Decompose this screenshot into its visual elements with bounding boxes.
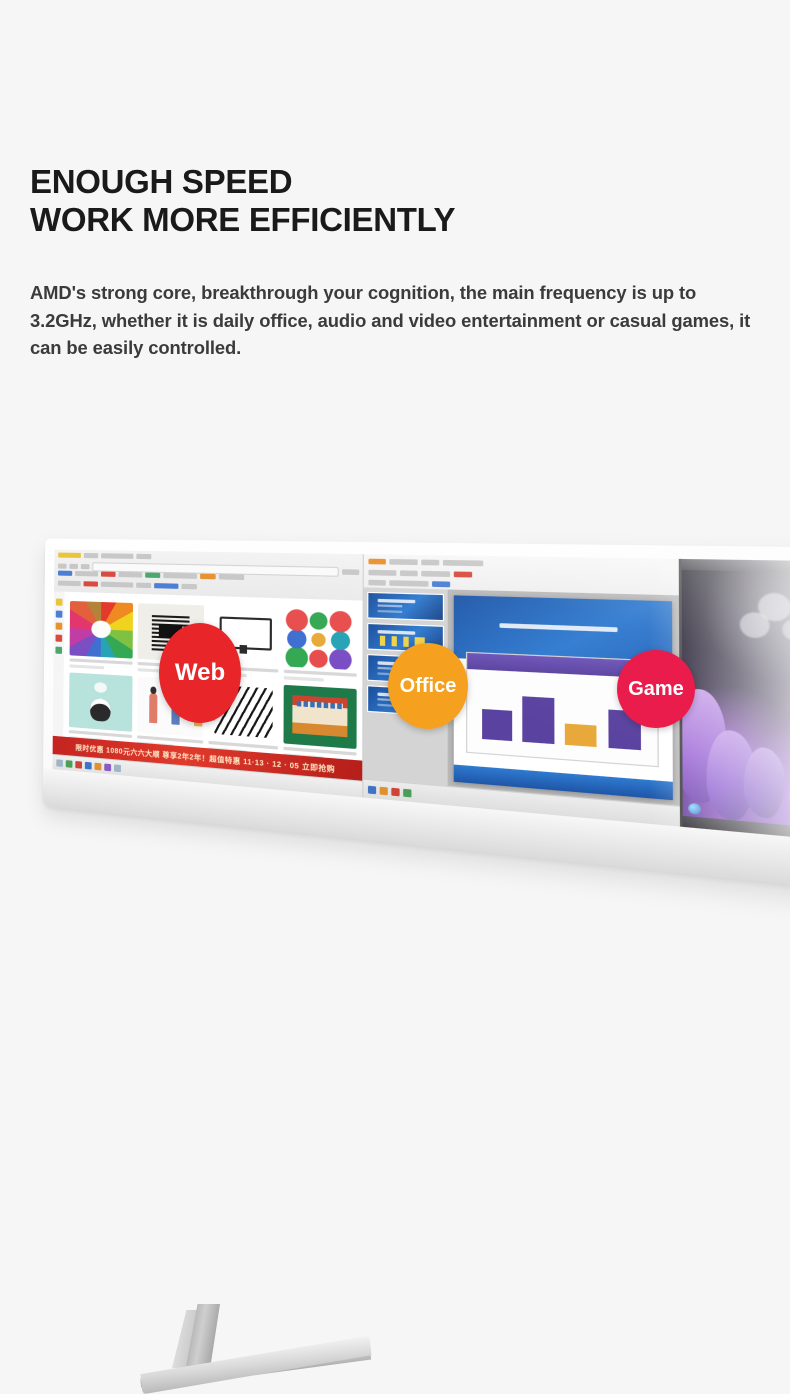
- result-card: [69, 601, 133, 671]
- game-viewport: [681, 570, 790, 835]
- taskbar-icon[interactable]: [104, 763, 111, 771]
- rock-formation: [743, 746, 785, 820]
- headline-line-1: ENOUGH SPEED: [30, 163, 760, 201]
- foliage-canopy: [738, 581, 790, 670]
- colored-pencils-circle-icon: [70, 601, 134, 659]
- status-icon: [368, 785, 376, 794]
- result-card: [284, 685, 357, 763]
- green-bookshelf-illustration-icon: [284, 685, 357, 749]
- taskbar-icon[interactable]: [75, 760, 82, 768]
- status-icon: [380, 786, 388, 795]
- sidebar-icon: [56, 623, 63, 630]
- badge-game: Game: [617, 650, 695, 728]
- start-icon[interactable]: [56, 759, 63, 767]
- browser-extra-row: [58, 581, 359, 594]
- screen-zone-game: [679, 559, 790, 846]
- status-icon: [391, 787, 399, 796]
- sidebar-icon: [55, 647, 62, 654]
- taskbar-icon[interactable]: [66, 760, 73, 768]
- page-title: ENOUGH SPEED WORK MORE EFFICIENTLY: [30, 163, 760, 240]
- status-icon: [403, 788, 411, 797]
- result-card: [69, 672, 133, 744]
- body-paragraph: AMD's strong core, breakthrough your cog…: [30, 240, 752, 363]
- slide-thumbnail[interactable]: [367, 592, 443, 621]
- headline-line-2: WORK MORE EFFICIENTLY: [30, 201, 760, 239]
- sidebar-icon: [56, 599, 63, 606]
- marketing-copy: ENOUGH SPEED WORK MORE EFFICIENTLY AMD's…: [30, 163, 760, 362]
- browser-tab-row: [58, 553, 359, 563]
- result-card: [284, 608, 357, 683]
- badge-web: Web: [159, 623, 241, 723]
- taskbar-icon[interactable]: [95, 762, 102, 770]
- badge-office: Office: [388, 643, 468, 729]
- teal-penguin-illustration-icon: [69, 672, 133, 731]
- taskbar-icon[interactable]: [114, 764, 121, 772]
- sidebar-icon: [56, 635, 63, 642]
- flat-icon-set-icon: [284, 608, 357, 670]
- taskbar-icon[interactable]: [85, 761, 92, 769]
- sidebar-icon: [56, 611, 63, 618]
